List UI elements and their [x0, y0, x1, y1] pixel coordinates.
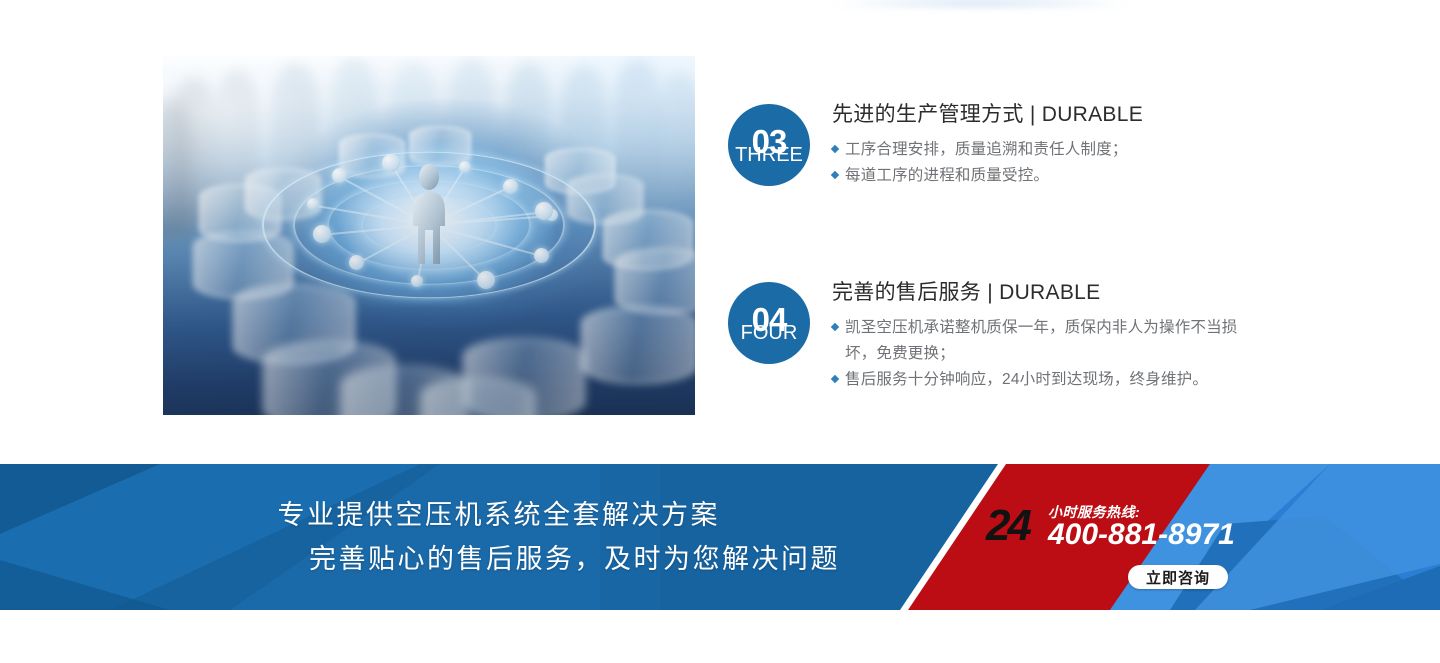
bullet-text: 凯圣空压机承诺整机质保一年，质保内非人为操作不当损坏，免费更换；	[845, 319, 1238, 362]
hero-connector-node	[382, 154, 400, 172]
hero-connector-node	[459, 161, 471, 173]
diamond-bullet-icon	[831, 145, 839, 153]
hero-network-image	[163, 56, 695, 415]
badge-number-04: 04 FOUR	[728, 282, 810, 364]
list-item: 售后服务十分钟响应，24小时到达现场，终身维护。	[832, 367, 1252, 393]
hero-connector-node	[503, 179, 518, 194]
hero-person-icon	[408, 164, 450, 268]
bullet-text: 每道工序的进程和质量受控。	[845, 167, 1049, 184]
feature-title-04: 完善的售后服务 | DURABLE	[832, 276, 1252, 306]
list-item: 每道工序的进程和质量受控。	[832, 163, 1252, 189]
diamond-bullet-icon	[831, 171, 839, 179]
banner-slogan: 专业提供空压机系统全套解决方案 完善贴心的售后服务，及时为您解决问题	[0, 464, 960, 610]
bullet-text: 售后服务十分钟响应，24小时到达现场，终身维护。	[845, 371, 1208, 388]
hero-connector-node	[349, 255, 364, 270]
page-root: 03 THREE 先进的生产管理方式 | DURABLE 工序合理安排，质量追溯…	[0, 0, 1440, 663]
bullet-text: 工序合理安排，质量追溯和责任人制度；	[845, 141, 1128, 158]
hero-connector-node	[534, 248, 549, 263]
list-item: 凯圣空压机承诺整机质保一年，质保内非人为操作不当损坏，免费更换；	[832, 315, 1252, 367]
diamond-bullet-icon	[831, 323, 839, 331]
badge-word-text: FOUR	[741, 323, 798, 343]
list-item: 工序合理安排，质量追溯和责任人制度；	[832, 137, 1252, 163]
hotline-hours-text: 24	[986, 501, 1029, 550]
feature-body-04: 完善的售后服务 | DURABLE 凯圣空压机承诺整机质保一年，质保内非人为操作…	[832, 276, 1252, 393]
hero-connector-node	[313, 225, 331, 243]
feature-bullet-list-04: 凯圣空压机承诺整机质保一年，质保内非人为操作不当损坏，免费更换； 售后服务十分钟…	[832, 315, 1252, 393]
banner-slogan-line-2: 完善贴心的售后服务，及时为您解决问题	[309, 537, 840, 581]
top-blue-wash	[830, 0, 1130, 8]
hero-connector-node	[307, 198, 319, 210]
hero-connector-node	[477, 271, 495, 289]
diamond-bullet-icon	[831, 375, 839, 383]
banner-slogan-line-1: 专业提供空压机系统全套解决方案	[278, 493, 721, 537]
badge-number-03: 03 THREE	[728, 104, 810, 186]
consult-now-button[interactable]: 立即咨询	[1128, 565, 1228, 589]
hero-connector-node	[411, 275, 423, 287]
feature-title-03: 先进的生产管理方式 | DURABLE	[832, 98, 1252, 128]
feature-body-03: 先进的生产管理方式 | DURABLE 工序合理安排，质量追溯和责任人制度； 每…	[832, 98, 1252, 189]
bottom-banner: 专业提供空压机系统全套解决方案 完善贴心的售后服务，及时为您解决问题 24 小时…	[0, 464, 1440, 610]
hotline-phone-number: 400-881-8971	[1048, 518, 1235, 551]
feature-bullet-list-03: 工序合理安排，质量追溯和责任人制度； 每道工序的进程和质量受控。	[832, 137, 1252, 189]
hotline-24-logo: 24	[986, 504, 1029, 548]
badge-word-text: THREE	[735, 145, 803, 165]
